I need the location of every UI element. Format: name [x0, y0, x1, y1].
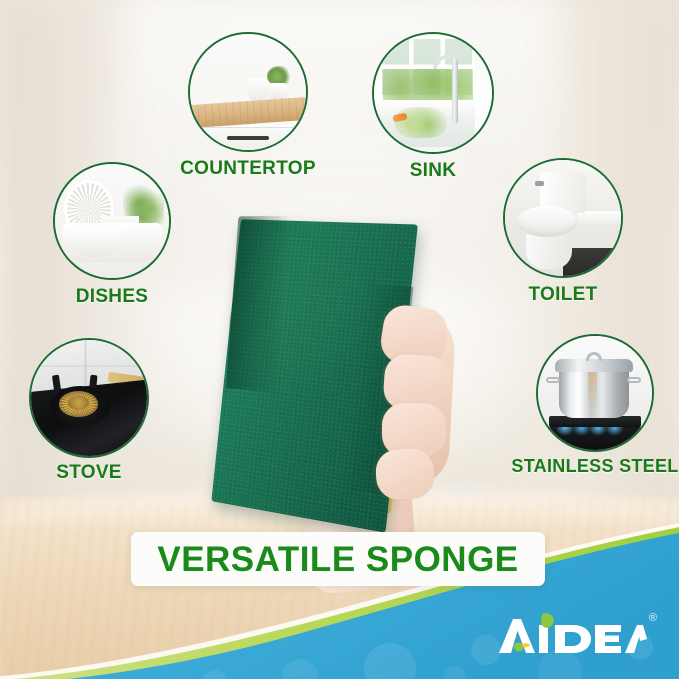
feature-stainless-steel-circle: [536, 334, 654, 452]
dishes-photo-icon: [55, 164, 169, 278]
feature-stove: STOVE: [29, 338, 149, 458]
countertop-wood-surface: [188, 97, 308, 129]
steel-pot-reflection: [588, 370, 597, 416]
feature-toilet-label: TOILET: [528, 284, 597, 306]
sink-vegetables: [395, 107, 447, 138]
feature-countertop: COUNTERTOP: [188, 32, 308, 152]
feature-dishes-label: DISHES: [76, 286, 149, 308]
toilet-photo-icon: [505, 160, 621, 276]
finger-pinky: [374, 447, 435, 501]
sink-faucet-icon: [452, 58, 458, 124]
feature-sink: SINK: [372, 32, 494, 154]
toilet-flush-lever: [535, 181, 544, 186]
countertop-drawer-handle: [227, 136, 269, 140]
leaf-icon: [541, 613, 554, 628]
toilet-side-counter: [577, 211, 623, 227]
feature-stainless-steel: STAINLESS STEEL: [536, 334, 654, 452]
brand-logo: ®: [497, 611, 657, 657]
steel-pot-handle-right: [627, 377, 641, 383]
feature-stove-label: STOVE: [56, 462, 122, 484]
feature-dishes-circle: [53, 162, 171, 280]
product-marketing-image: COUNTERTOP SINK: [0, 0, 679, 679]
stove-photo-icon: [31, 340, 147, 456]
feature-countertop-circle: [188, 32, 308, 152]
stainless-steel-pot-photo-icon: [538, 336, 652, 450]
feature-dishes: DISHES: [53, 162, 171, 280]
feature-toilet-circle: [503, 158, 623, 278]
stove-burner-cap: [68, 396, 89, 410]
feature-countertop-label: COUNTERTOP: [180, 158, 316, 180]
countertop-jar-icon: [248, 78, 268, 101]
hand-holding-sponge: [200, 215, 500, 545]
feature-stainless-steel-label: STAINLESS STEEL: [511, 456, 678, 477]
countertop-photo-icon: [190, 34, 306, 150]
feature-toilet: TOILET: [503, 158, 623, 278]
registered-trademark-symbol: ®: [649, 613, 657, 624]
feature-stove-circle: [29, 338, 149, 458]
steel-pot-lid-knob: [586, 352, 602, 361]
toilet-seat-icon: [517, 206, 577, 236]
toilet-floor: [563, 248, 623, 276]
headline-text: VERSATILE SPONGE: [157, 542, 518, 577]
sink-photo-icon: [374, 34, 492, 152]
steel-pot-handle-left: [546, 377, 560, 383]
sink-window-plants: [383, 69, 473, 100]
feature-sink-label: SINK: [410, 160, 457, 182]
feature-sink-circle: [372, 32, 494, 154]
headline-banner: VERSATILE SPONGE: [131, 532, 545, 586]
aidea-wordmark-icon: [497, 611, 647, 657]
